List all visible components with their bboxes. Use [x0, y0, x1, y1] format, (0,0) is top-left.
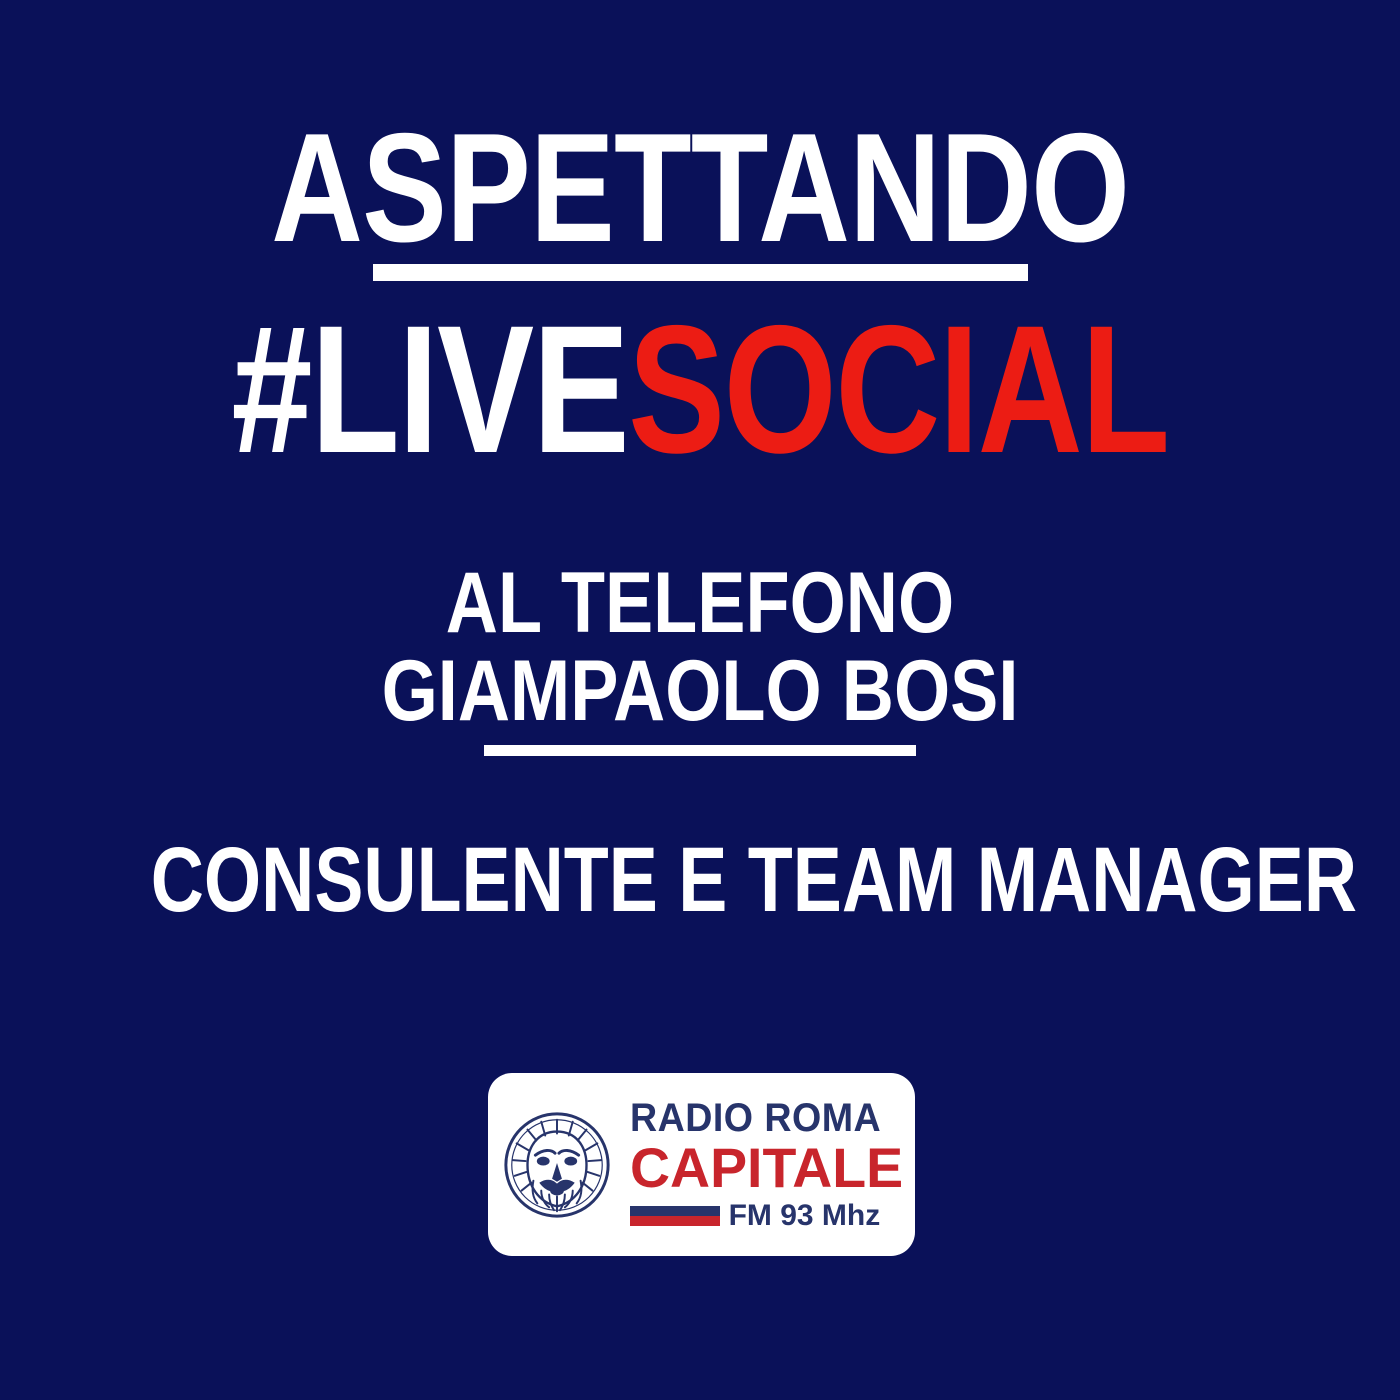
poster-canvas: ASPETTANDO #LIVESOCIAL AL TELEFONO GIAMP…	[0, 0, 1400, 1400]
guest-intro-label: AL TELEFONO	[112, 560, 1288, 648]
logo-frequency-label: FM 93 Mhz	[729, 1201, 881, 1231]
logo-flag-bar-icon	[630, 1206, 720, 1226]
guest-name: GIAMPAOLO BOSI	[112, 648, 1288, 736]
logo-brand-mid: CAPITALE	[630, 1140, 903, 1196]
logo-wordmark: RADIO ROMA CAPITALE FM 93 Mhz	[630, 1098, 906, 1231]
headline-block: ASPETTANDO #LIVESOCIAL	[0, 126, 1400, 468]
headline-live-part: #LIVE	[231, 287, 628, 491]
role-block: CONSULENTE E TEAM MANAGER	[0, 834, 1400, 926]
headline-aspettando: ASPETTANDO	[269, 126, 1130, 250]
bocca-della-verita-face-icon	[498, 1106, 616, 1224]
headline-social-part: SOCIAL	[628, 287, 1168, 491]
logo-brand-top: RADIO ROMA	[630, 1098, 881, 1138]
logo-frequency-row: FM 93 Mhz	[630, 1201, 881, 1231]
headline-livesocial: #LIVESOCIAL	[140, 311, 1260, 468]
guest-block: AL TELEFONO GIAMPAOLO BOSI	[0, 560, 1400, 756]
role-label: CONSULENTE E TEAM MANAGER	[151, 834, 1357, 926]
guest-name-underline	[484, 745, 916, 756]
radio-roma-capitale-logo-card: RADIO ROMA CAPITALE FM 93 Mhz	[488, 1073, 915, 1256]
